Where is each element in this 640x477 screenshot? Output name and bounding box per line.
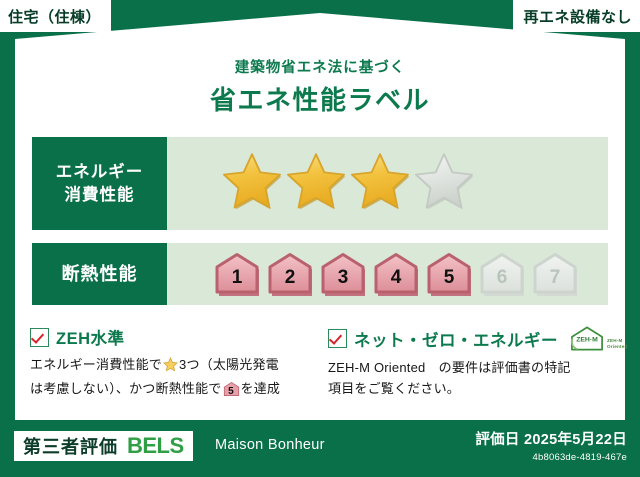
row-insulation-label: 断熱性能 [32, 243, 167, 305]
bels-label-en: BELS [127, 433, 184, 459]
note-zeh-standard-body: エネルギー消費性能で3つ（太陽光発電は考慮しない）、かつ断熱性能で5を達成 [30, 354, 310, 403]
note-zeh-standard: ZEH水準 エネルギー消費性能で3つ（太陽光発電は考慮しない）、かつ断熱性能で5… [30, 325, 310, 403]
checkmark-icon [328, 329, 347, 348]
title-subtitle: 建築物省エネ法に基づく [0, 56, 640, 77]
note-right-text-2: 項目をご覧ください。 [328, 381, 460, 396]
row-energy-label-line1: エネルギー [56, 161, 144, 183]
inline-house-level: 5 [223, 384, 240, 400]
note-zeh-standard-head: ZEH水準 [30, 325, 310, 349]
label-footer: 第三者評価 BELS Maison Bonheur 評価日 2025年5月22日… [0, 420, 640, 477]
insulation-level-number: 6 [476, 267, 528, 289]
insulation-level-empty: 6 [476, 250, 528, 298]
insulation-level-empty: 7 [529, 250, 581, 298]
row-insulation-performance: 断熱性能 1234567 [32, 243, 608, 305]
insulation-level-number: 1 [211, 267, 263, 289]
tag-renewable-energy: 再エネ設備なし [513, 0, 640, 32]
insulation-level-number: 2 [264, 267, 316, 289]
building-name: Maison Bonheur [215, 437, 325, 453]
note-left-text-1: エネルギー消費性能で [30, 357, 162, 372]
insulation-rank-scale: 1234567 [211, 250, 581, 298]
note-net-zero-title: ネット・ゼロ・エネルギー [354, 327, 558, 351]
star-filled-icon [349, 151, 411, 216]
row-insulation-label-line1: 断熱性能 [62, 262, 138, 286]
note-net-zero-body: ZEH-M Oriented の要件は評価書の特記項目をご覧ください。 [328, 357, 628, 399]
note-net-zero-energy: ネット・ゼロ・エネルギー ZEH·M ZEH-M Oriented ZEH-M … [328, 325, 628, 399]
zeh-m-logo: ZEH·M ZEH-M Oriented [569, 325, 628, 352]
insulation-level-filled: 4 [370, 250, 422, 298]
note-left-text-2: 3つ（太陽光発電 [179, 357, 279, 372]
insulation-level-number: 3 [317, 267, 369, 289]
zeh-m-logo-caption-2: Oriented [607, 344, 628, 349]
inline-star-icon [163, 360, 178, 375]
insulation-level-number: 5 [423, 267, 475, 289]
evaluation-id: 4b8063de-4819-467e [475, 452, 627, 463]
star-filled-icon [285, 151, 347, 216]
inline-house-icon: 5 [223, 381, 240, 403]
bels-label-jp: 第三者評価 [23, 433, 118, 459]
svg-text:ZEH·M: ZEH·M [576, 336, 598, 343]
zeh-m-logo-caption-1: ZEH-M [607, 338, 623, 343]
row-energy-value [167, 137, 608, 230]
note-left-text-4: を達成 [241, 381, 281, 396]
energy-performance-label: 住宅（住棟） 再エネ設備なし 建築物省エネ法に基づく 省エネ性能ラベル エネルギ… [0, 0, 640, 477]
note-right-text-1: ZEH-M Oriented の要件は評価書の特記 [328, 360, 571, 375]
title-main: 省エネ性能ラベル [0, 80, 640, 117]
insulation-level-filled: 2 [264, 250, 316, 298]
label-title: 建築物省エネ法に基づく 省エネ性能ラベル [0, 56, 640, 117]
tag-building-type: 住宅（住棟） [0, 0, 111, 32]
insulation-level-filled: 5 [423, 250, 475, 298]
star-rating [221, 151, 475, 216]
insulation-level-filled: 1 [211, 250, 263, 298]
checkmark-icon [30, 328, 49, 347]
evaluation-date: 評価日 2025年5月22日 [475, 428, 627, 449]
insulation-level-number: 4 [370, 267, 422, 289]
insulation-level-number: 7 [529, 267, 581, 289]
row-insulation-value: 1234567 [167, 243, 608, 305]
row-energy-performance: エネルギー 消費性能 [32, 137, 608, 230]
zeh-m-logo-caption: ZEH-M Oriented [607, 338, 628, 352]
row-energy-label-line2: 消費性能 [65, 184, 135, 206]
row-energy-label: エネルギー 消費性能 [32, 137, 167, 230]
note-net-zero-head: ネット・ゼロ・エネルギー ZEH·M ZEH-M Oriented [328, 325, 628, 352]
evaluation-info: 評価日 2025年5月22日 4b8063de-4819-467e [475, 428, 627, 463]
bels-plate: 第三者評価 BELS [14, 431, 193, 461]
zeh-m-house-icon: ZEH·M [569, 325, 605, 352]
star-filled-icon [221, 151, 283, 216]
note-left-text-3: は考慮しない）、かつ断熱性能で [30, 381, 222, 396]
note-zeh-standard-title: ZEH水準 [56, 325, 125, 349]
insulation-level-filled: 3 [317, 250, 369, 298]
star-empty-icon [413, 151, 475, 216]
